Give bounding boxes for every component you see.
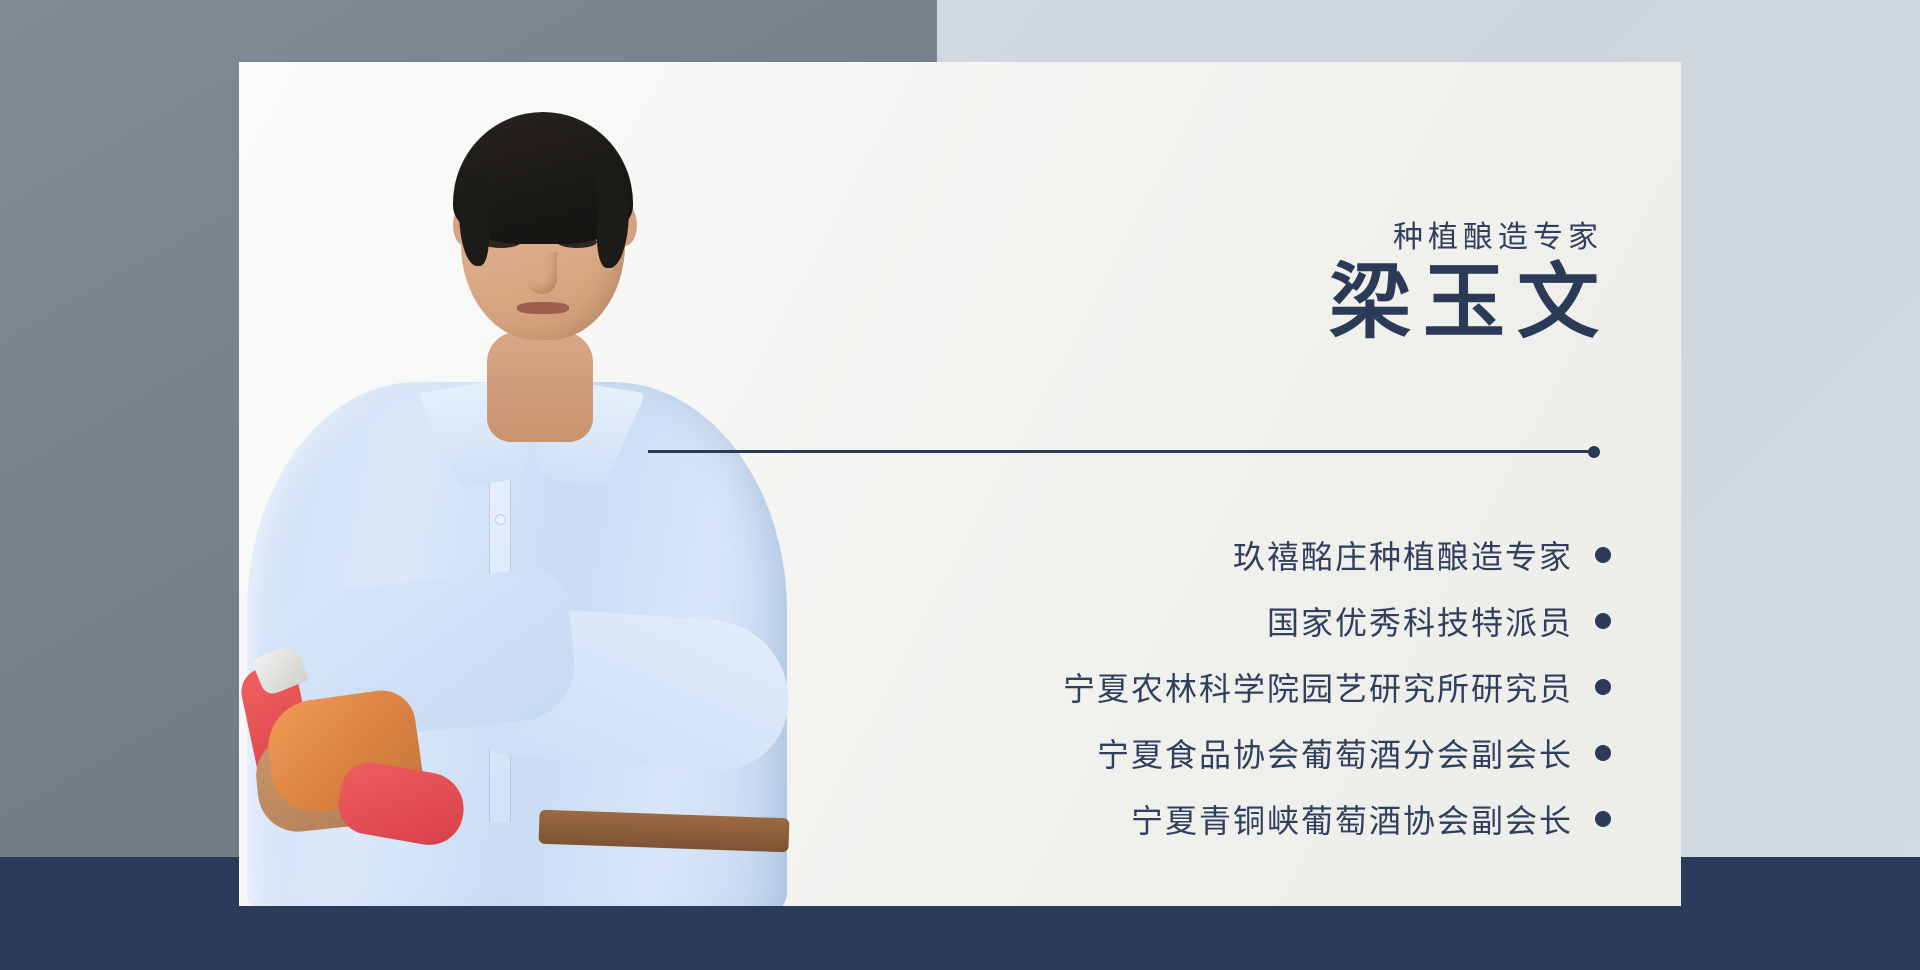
list-item: 玖禧酩庄种植酿造专家 (711, 522, 1611, 588)
divider-line (648, 450, 1592, 453)
credential-text: 玖禧酩庄种植酿造专家 (1233, 532, 1573, 578)
list-item: 宁夏食品协会葡萄酒分会副会长 (711, 720, 1611, 786)
credential-text: 国家优秀科技特派员 (1267, 598, 1573, 644)
poster-stage: 种植酿造专家 梁玉文 玖禧酩庄种植酿造专家 国家优秀科技特派员 宁夏农林科学院园… (0, 0, 1920, 970)
credentials-list: 玖禧酩庄种植酿造专家 国家优秀科技特派员 宁夏农林科学院园艺研究所研究员 宁夏食… (711, 522, 1611, 852)
credential-text: 宁夏食品协会葡萄酒分会副会长 (1097, 730, 1573, 776)
credential-text: 宁夏青铜峡葡萄酒协会副会长 (1131, 796, 1573, 842)
divider-end-dot-icon (1588, 446, 1600, 458)
list-item: 宁夏农林科学院园艺研究所研究员 (711, 654, 1611, 720)
bullet-dot-icon (1595, 679, 1611, 695)
bullet-dot-icon (1595, 613, 1611, 629)
list-item: 国家优秀科技特派员 (711, 588, 1611, 654)
expert-name: 梁玉文 (1329, 260, 1611, 346)
credential-text: 宁夏农林科学院园艺研究所研究员 (1063, 664, 1573, 710)
profile-card: 种植酿造专家 梁玉文 玖禧酩庄种植酿造专家 国家优秀科技特派员 宁夏农林科学院园… (239, 62, 1681, 906)
role-eyebrow: 种植酿造专家 (1393, 212, 1603, 256)
profile-text-area: 种植酿造专家 梁玉文 玖禧酩庄种植酿造专家 国家优秀科技特派员 宁夏农林科学院园… (239, 62, 1681, 906)
bullet-dot-icon (1595, 811, 1611, 827)
divider (648, 446, 1600, 458)
bullet-dot-icon (1595, 745, 1611, 761)
list-item: 宁夏青铜峡葡萄酒协会副会长 (711, 786, 1611, 852)
bullet-dot-icon (1595, 547, 1611, 563)
